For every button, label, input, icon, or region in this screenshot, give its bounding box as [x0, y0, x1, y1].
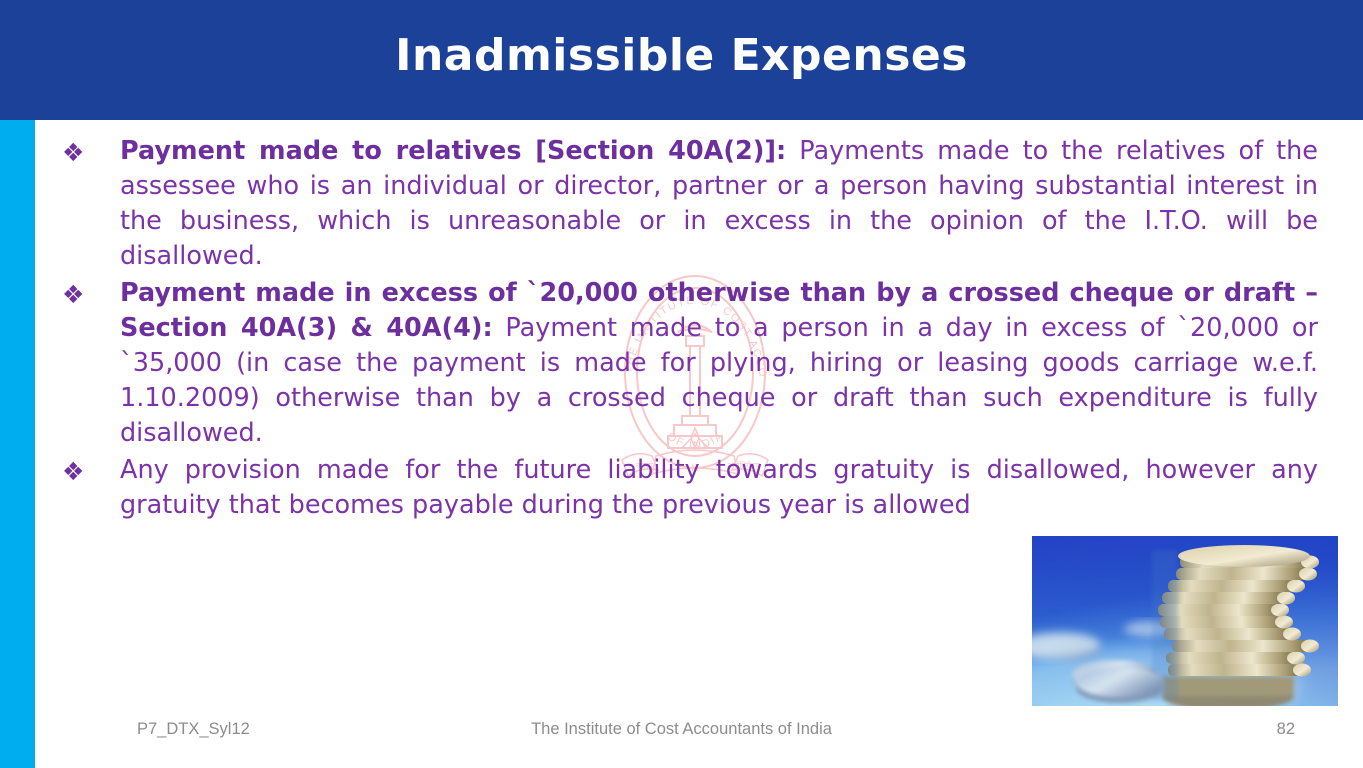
diamond-bullet-icon: ❖ [62, 453, 120, 489]
coin-stack-image [1032, 536, 1338, 706]
bullet-text-1: Payment made to relatives [Section 40A(2… [120, 134, 1318, 274]
diamond-bullet-icon: ❖ [62, 134, 120, 170]
bullet-text-3: Any provision made for the future liabil… [120, 453, 1318, 523]
bullet-heading-1: Payment made to relatives [Section 40A(2… [120, 136, 786, 166]
list-item: ❖ Any provision made for the future liab… [62, 453, 1318, 523]
page-title: Inadmissible Expenses [0, 28, 1363, 84]
slide: Inadmissible Expenses [0, 0, 1363, 768]
footer-page-number: 82 [1277, 718, 1295, 740]
diamond-bullet-icon: ❖ [62, 276, 120, 312]
footer: P7_DTX_Syl12 The Institute of Cost Accou… [0, 718, 1363, 752]
left-accent-bar [0, 120, 35, 768]
footer-institute-name: The Institute of Cost Accountants of Ind… [0, 718, 1363, 740]
bullet-text-2: Payment made in excess of `20,000 otherw… [120, 276, 1318, 451]
list-item: ❖ Payment made to relatives [Section 40A… [62, 134, 1318, 274]
bullet-body-3: Any provision made for the future liabil… [120, 455, 1318, 520]
bullet-list: ❖ Payment made to relatives [Section 40A… [62, 134, 1318, 525]
list-item: ❖ Payment made in excess of `20,000 othe… [62, 276, 1318, 451]
